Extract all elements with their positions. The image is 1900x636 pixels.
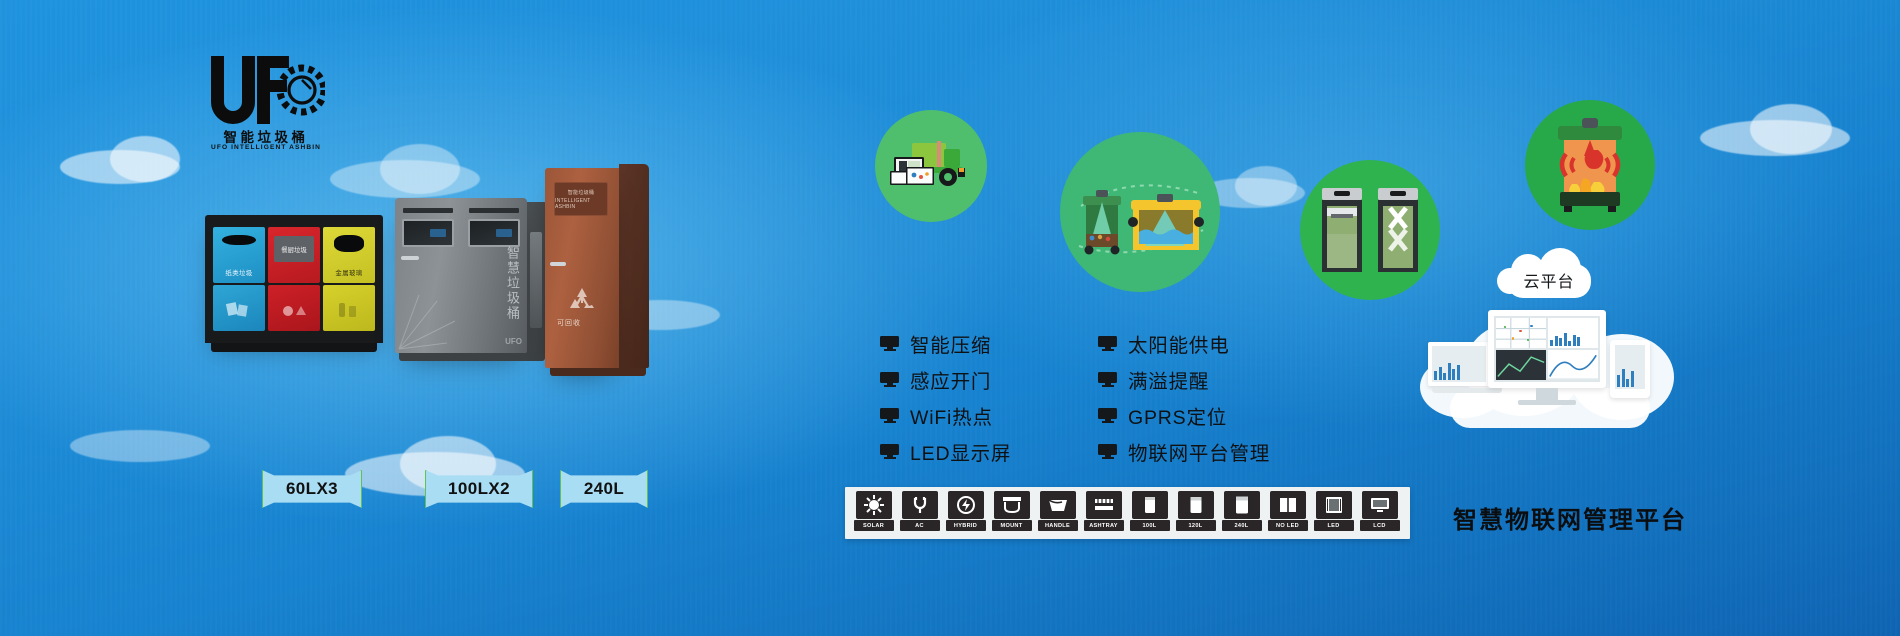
feature-item: 太阳能供电 [1098, 325, 1270, 361]
spec-item-no-led[interactable]: NO LED [1265, 491, 1310, 535]
plate-chinese-text: 智能垃圾桶 [568, 189, 595, 196]
bin-base [550, 368, 646, 376]
fill-level-sensor-icon [1069, 160, 1211, 264]
monitor-base [1518, 400, 1576, 405]
kitchen-waste-graphic [279, 297, 309, 321]
monitor-bullet-icon [880, 444, 899, 459]
garbage-truck-icon [890, 135, 972, 197]
monitor-bullet-icon [1098, 372, 1117, 387]
compartment-lower [213, 285, 265, 331]
feature-column-right: 太阳能供电 满溢提醒 GPRS定位 物联网平台管理 [1098, 325, 1270, 469]
compartment-lower [268, 285, 320, 331]
compartment-lower [323, 285, 375, 331]
bin-100l-icon [1132, 491, 1168, 519]
spec-item-240l[interactable]: 240L [1219, 491, 1264, 535]
feature-item: LED显示屏 [880, 433, 1011, 469]
monitor-bullet-icon [880, 408, 899, 423]
cloud-decoration [1235, 166, 1297, 206]
dashboard-dark-panel [1496, 350, 1546, 380]
bin-compartment-metal-glass: 金属玻璃 [323, 227, 375, 331]
compacting-bins-icon [1314, 184, 1426, 276]
spec-item-led[interactable]: LED [1311, 491, 1356, 535]
spec-item-ac[interactable]: AC [897, 491, 942, 535]
power-plug-icon [902, 491, 938, 519]
compartment-label: 金属玻璃 [323, 268, 375, 277]
feature-item: 感应开门 [880, 361, 1011, 397]
spec-item-120l[interactable]: 120L [1173, 491, 1218, 535]
cloud-decoration [70, 430, 210, 462]
compartment-label: 餐厨垃圾 [274, 236, 314, 262]
recycle-icon [567, 286, 597, 314]
decorative-lines [397, 291, 461, 351]
iot-platform-devices [1420, 300, 1680, 450]
spec-item-100l[interactable]: 100L [1127, 491, 1172, 535]
led-panel-icon [1316, 491, 1352, 519]
compartment-upper: 餐厨垃圾 [268, 227, 320, 283]
header-strip [469, 208, 519, 213]
spec-label: HYBRID [946, 520, 986, 531]
cloud-decoration [110, 136, 180, 182]
spec-label: LCD [1360, 520, 1400, 531]
lcd-screen-icon [1362, 491, 1398, 519]
feature-circle-fill-level-sensing [1060, 132, 1220, 292]
feature-column-left: 智能压缩 感应开门 WiFi热点 LED显示屏 [880, 325, 1011, 469]
map-markers [1498, 320, 1544, 346]
dashboard-line-panel [1548, 350, 1598, 380]
spec-label: AC [900, 520, 940, 531]
spec-item-hybrid[interactable]: HYBRID [943, 491, 988, 535]
dashboard-bar-panel [1548, 318, 1598, 348]
product-single-brown-bin: 智能垃圾桶 INTELLIGENT ASHBIN 可回收 [545, 168, 645, 368]
info-plate: 智能垃圾桶 INTELLIGENT ASHBIN [554, 182, 608, 216]
feature-item: 智能压缩 [880, 325, 1011, 361]
waste-slot-icon [222, 235, 256, 245]
cloud-decoration [1750, 104, 1832, 154]
fire-alarm-bin-icon [1538, 116, 1642, 214]
spec-label: MOUNT [992, 520, 1032, 531]
dashboard-map-panel [1496, 318, 1546, 348]
spec-label: ASHTRAY [1084, 520, 1124, 531]
product-two-compartment-bin: 智慧垃圾桶 UFO [395, 198, 527, 353]
compartment-upper: 金属玻璃 [323, 227, 375, 283]
feature-circle-fire-alarm [1525, 100, 1655, 230]
tablet-device [1610, 340, 1650, 398]
door-handle [550, 262, 566, 266]
hybrid-bolt-icon [948, 491, 984, 519]
waste-slot-icon [334, 235, 364, 252]
spec-label: SOLAR [854, 520, 894, 531]
desktop-monitor-device [1488, 310, 1606, 388]
spec-item-ashtray[interactable]: ASHTRAY [1081, 491, 1126, 535]
cloud-platform-label: 云平台 [1495, 268, 1603, 292]
monitor-bullet-icon [880, 336, 899, 351]
metal-glass-graphic [334, 297, 364, 321]
monitor-bullet-icon [880, 372, 899, 387]
spec-label: NO LED [1268, 520, 1308, 531]
feature-label: GPRS定位 [1128, 401, 1227, 430]
spec-item-solar[interactable]: SOLAR [851, 491, 896, 535]
spec-label: LED [1314, 520, 1354, 531]
feature-label: 智能压缩 [910, 329, 991, 358]
compartment-label: 纸类垃圾 [213, 268, 265, 277]
marketing-banner: 智能垃圾桶 UFO INTELLIGENT ASHBIN 纸类垃圾 餐厨垃圾 [0, 0, 1900, 636]
product-three-compartment-bin: 纸类垃圾 餐厨垃圾 [205, 215, 383, 343]
no-led-icon [1270, 491, 1306, 519]
mini-bar-chart [1550, 328, 1580, 346]
feature-circle-fleet-monitoring [875, 110, 987, 222]
bin-body: 智能垃圾桶 INTELLIGENT ASHBIN 可回收 [545, 168, 619, 368]
display-window [468, 219, 520, 247]
capacity-label-240l: 240L [560, 470, 648, 508]
compartment-upper: 纸类垃圾 [213, 227, 265, 283]
bin-brand-mark: UFO [505, 337, 522, 346]
header-strip [403, 208, 453, 213]
monitor-bullet-icon [1098, 444, 1117, 459]
side-vent [530, 232, 542, 328]
bin-compartment-paper: 纸类垃圾 [213, 227, 265, 331]
feature-label: 太阳能供电 [1128, 329, 1230, 358]
platform-title: 智慧物联网管理平台 [1420, 500, 1720, 535]
feature-label: 满溢提醒 [1128, 365, 1209, 394]
bin-body-text: 智慧垃圾桶 [503, 246, 522, 321]
monitor-stand [1536, 388, 1558, 400]
monitor-screen [1494, 316, 1600, 382]
bin-body: 智慧垃圾桶 UFO [395, 198, 527, 353]
plate-english-text: INTELLIGENT ASHBIN [555, 198, 607, 210]
bin-base [399, 353, 545, 361]
network-lines [1496, 350, 1546, 380]
bin-240l-icon [1224, 491, 1260, 519]
feature-item: WiFi热点 [880, 397, 1011, 433]
logo-chinese-name: 智能垃圾桶 [207, 126, 325, 146]
monitor-bullet-icon [1098, 408, 1117, 423]
feature-label: 感应开门 [910, 365, 991, 394]
mini-bar-chart [1434, 358, 1460, 380]
logo-english-tagline: UFO INTELLIGENT ASHBIN [200, 144, 332, 151]
paper-waste-graphic [224, 297, 254, 321]
spec-item-mount[interactable]: MOUNT [989, 491, 1034, 535]
feature-item: GPRS定位 [1098, 397, 1270, 433]
bin-side-panel [619, 164, 649, 368]
feature-item: 物联网平台管理 [1098, 433, 1270, 469]
spec-icon-strip: SOLAR AC HYBRID MOUNT [845, 487, 1410, 539]
recycle-label: 可回收 [545, 318, 593, 328]
feature-label: LED显示屏 [910, 437, 1011, 466]
feature-label: 物联网平台管理 [1128, 437, 1270, 466]
spec-label: 120L [1176, 520, 1216, 531]
cloud-platform-tag: 云平台 [1495, 248, 1603, 300]
monitor-bullet-icon [1098, 336, 1117, 351]
line-chart [1548, 350, 1598, 380]
handle-icon [1040, 491, 1076, 519]
ashtray-icon [1086, 491, 1122, 519]
bin-compartment-kitchen: 餐厨垃圾 [268, 227, 320, 331]
laptop-base [1432, 388, 1502, 393]
cloud-decoration [380, 144, 460, 194]
capacity-label-100lx2: 100LX2 [425, 470, 533, 508]
spec-label: 240L [1222, 520, 1262, 531]
laptop-device [1428, 342, 1490, 386]
capacity-label-60lx3: 60LX3 [262, 470, 362, 508]
bin-base [211, 343, 377, 352]
bin-120l-icon [1178, 491, 1214, 519]
spec-item-handle[interactable]: HANDLE [1035, 491, 1080, 535]
wall-mount-icon [994, 491, 1030, 519]
door-handle [401, 256, 419, 260]
laptop-screen [1432, 346, 1486, 382]
spec-item-lcd[interactable]: LCD [1357, 491, 1402, 535]
spec-label: HANDLE [1038, 520, 1078, 531]
sun-icon [856, 491, 892, 519]
tablet-screen [1615, 345, 1645, 389]
display-window [402, 219, 454, 247]
feature-label: WiFi热点 [910, 401, 993, 430]
bin-body: 纸类垃圾 餐厨垃圾 [205, 215, 383, 343]
feature-circle-waste-compaction [1300, 160, 1440, 300]
feature-item: 满溢提醒 [1098, 361, 1270, 397]
spec-label: 100L [1130, 520, 1170, 531]
mini-bar-chart [1617, 361, 1634, 387]
